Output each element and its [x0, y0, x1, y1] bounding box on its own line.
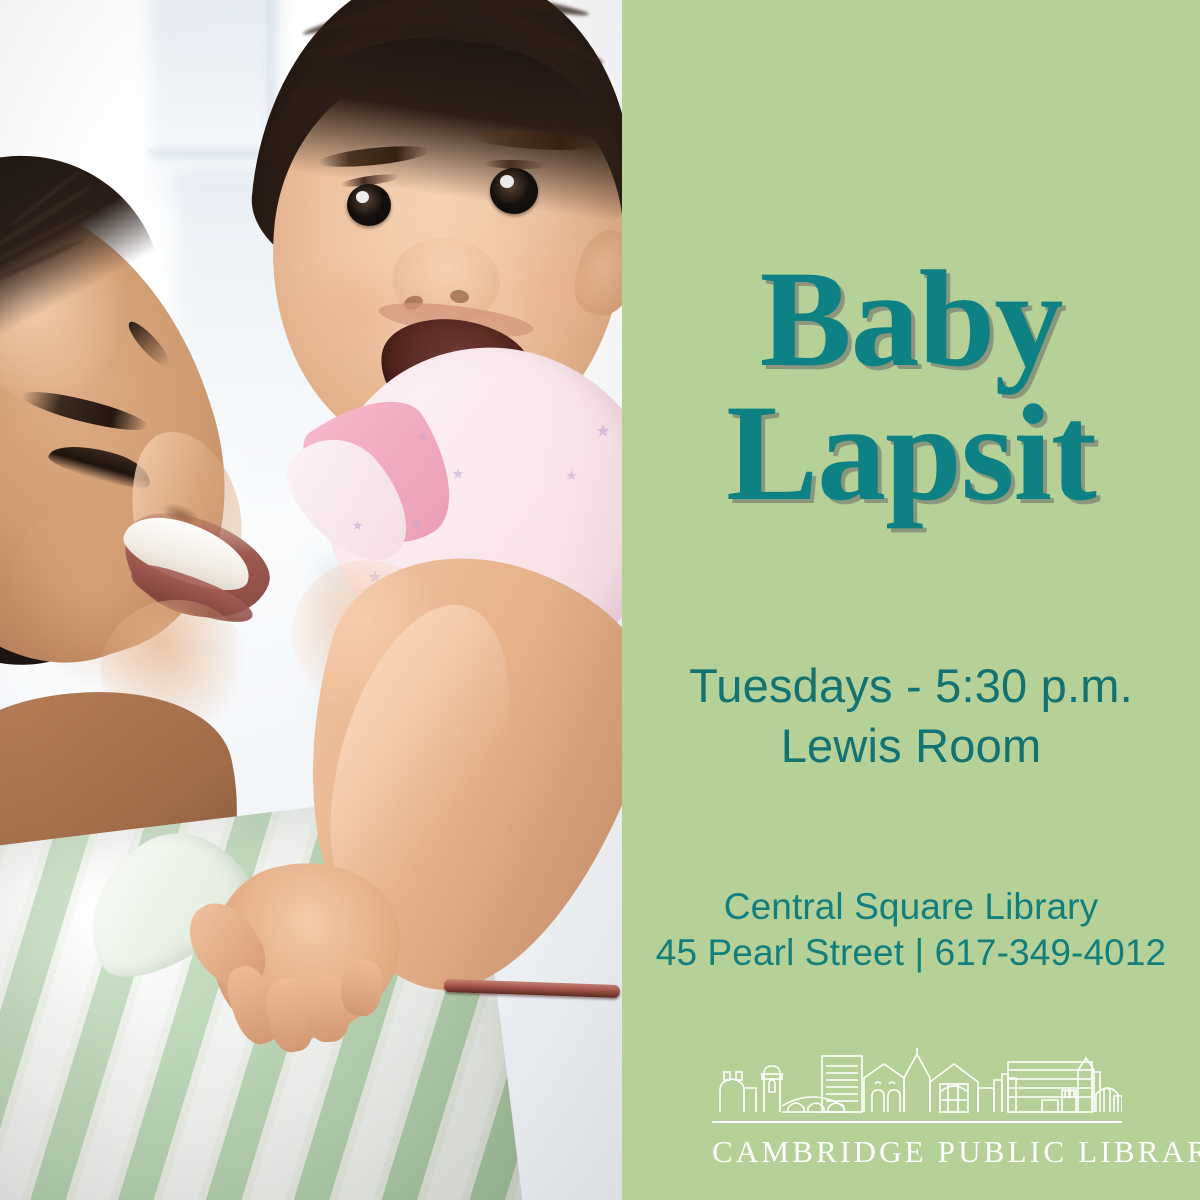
- baby-eye-glint: [356, 191, 369, 203]
- event-title: Baby Lapsit: [622, 252, 1200, 520]
- baby-eye: [490, 168, 538, 214]
- logo-divider-rule: [712, 1121, 1122, 1123]
- event-title-line-1: Baby: [622, 252, 1200, 386]
- event-location: Central Square Library 45 Pearl Street |…: [622, 884, 1200, 976]
- event-title-line-2: Lapsit: [622, 386, 1200, 520]
- baby-eye-glint: [500, 175, 514, 188]
- library-wordmark: CAMBRIDGE PUBLIC LIBRARY: [712, 1134, 1122, 1170]
- event-schedule: Tuesdays - 5:30 p.m. Lewis Room: [622, 656, 1200, 776]
- schedule-day-time: Tuesdays - 5:30 p.m.: [622, 656, 1200, 716]
- photo-panel: [0, 0, 622, 1200]
- schedule-room: Lewis Room: [622, 716, 1200, 776]
- info-panel: Baby Lapsit Tuesdays - 5:30 p.m. Lewis R…: [622, 0, 1200, 1200]
- baby-lapsit-poster: Baby Lapsit Tuesdays - 5:30 p.m. Lewis R…: [0, 0, 1200, 1200]
- location-address-phone: 45 Pearl Street | 617-349-4012: [622, 930, 1200, 976]
- baby-elbow: [292, 560, 442, 710]
- baby-eye: [347, 184, 391, 226]
- library-logo: CAMBRIDGE PUBLIC LIBRARY: [712, 1048, 1122, 1170]
- city-skyline-icon: [712, 1048, 1122, 1120]
- location-branch-name: Central Square Library: [622, 884, 1200, 930]
